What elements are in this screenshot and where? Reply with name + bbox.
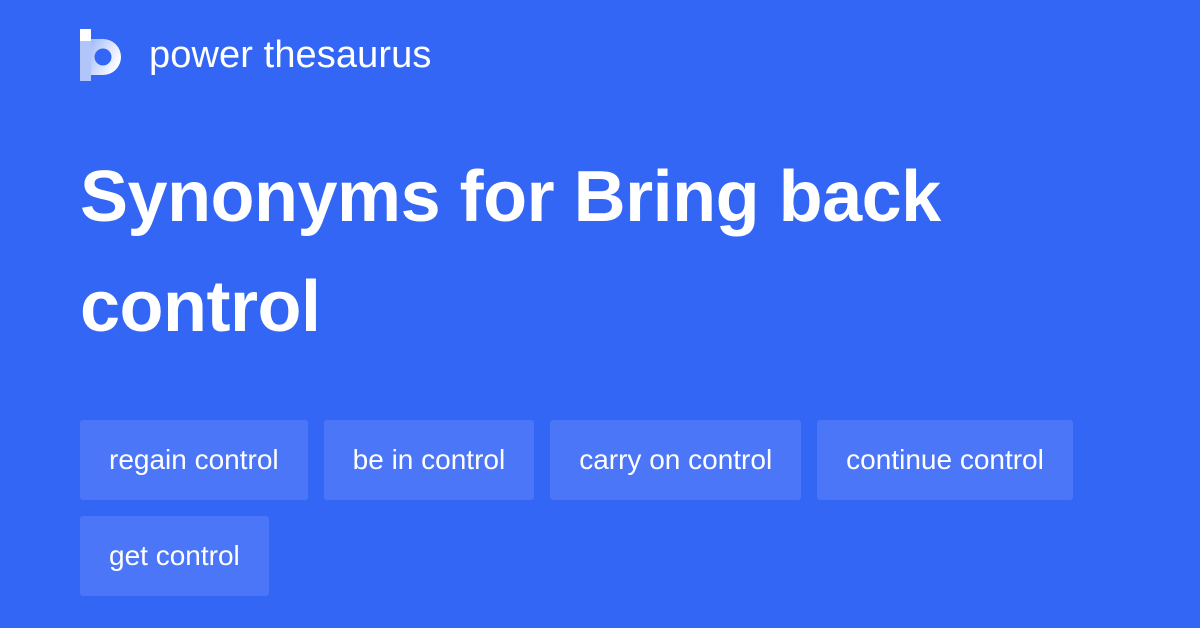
synonym-chip-list: regain control be in control carry on co… xyxy=(80,420,1120,596)
power-thesaurus-b-logo-icon xyxy=(80,29,126,81)
brand-name: power thesaurus xyxy=(149,36,431,74)
page-title: Synonyms for Bring back control xyxy=(80,142,1080,362)
brand-header[interactable]: power thesaurus xyxy=(80,27,431,83)
share-card: power thesaurus Synonyms for Bring back … xyxy=(0,0,1200,628)
synonym-chip[interactable]: get control xyxy=(80,516,269,596)
synonym-chip[interactable]: continue control xyxy=(817,420,1073,500)
synonym-chip[interactable]: carry on control xyxy=(550,420,801,500)
synonym-chip[interactable]: be in control xyxy=(324,420,535,500)
synonym-chip[interactable]: regain control xyxy=(80,420,308,500)
